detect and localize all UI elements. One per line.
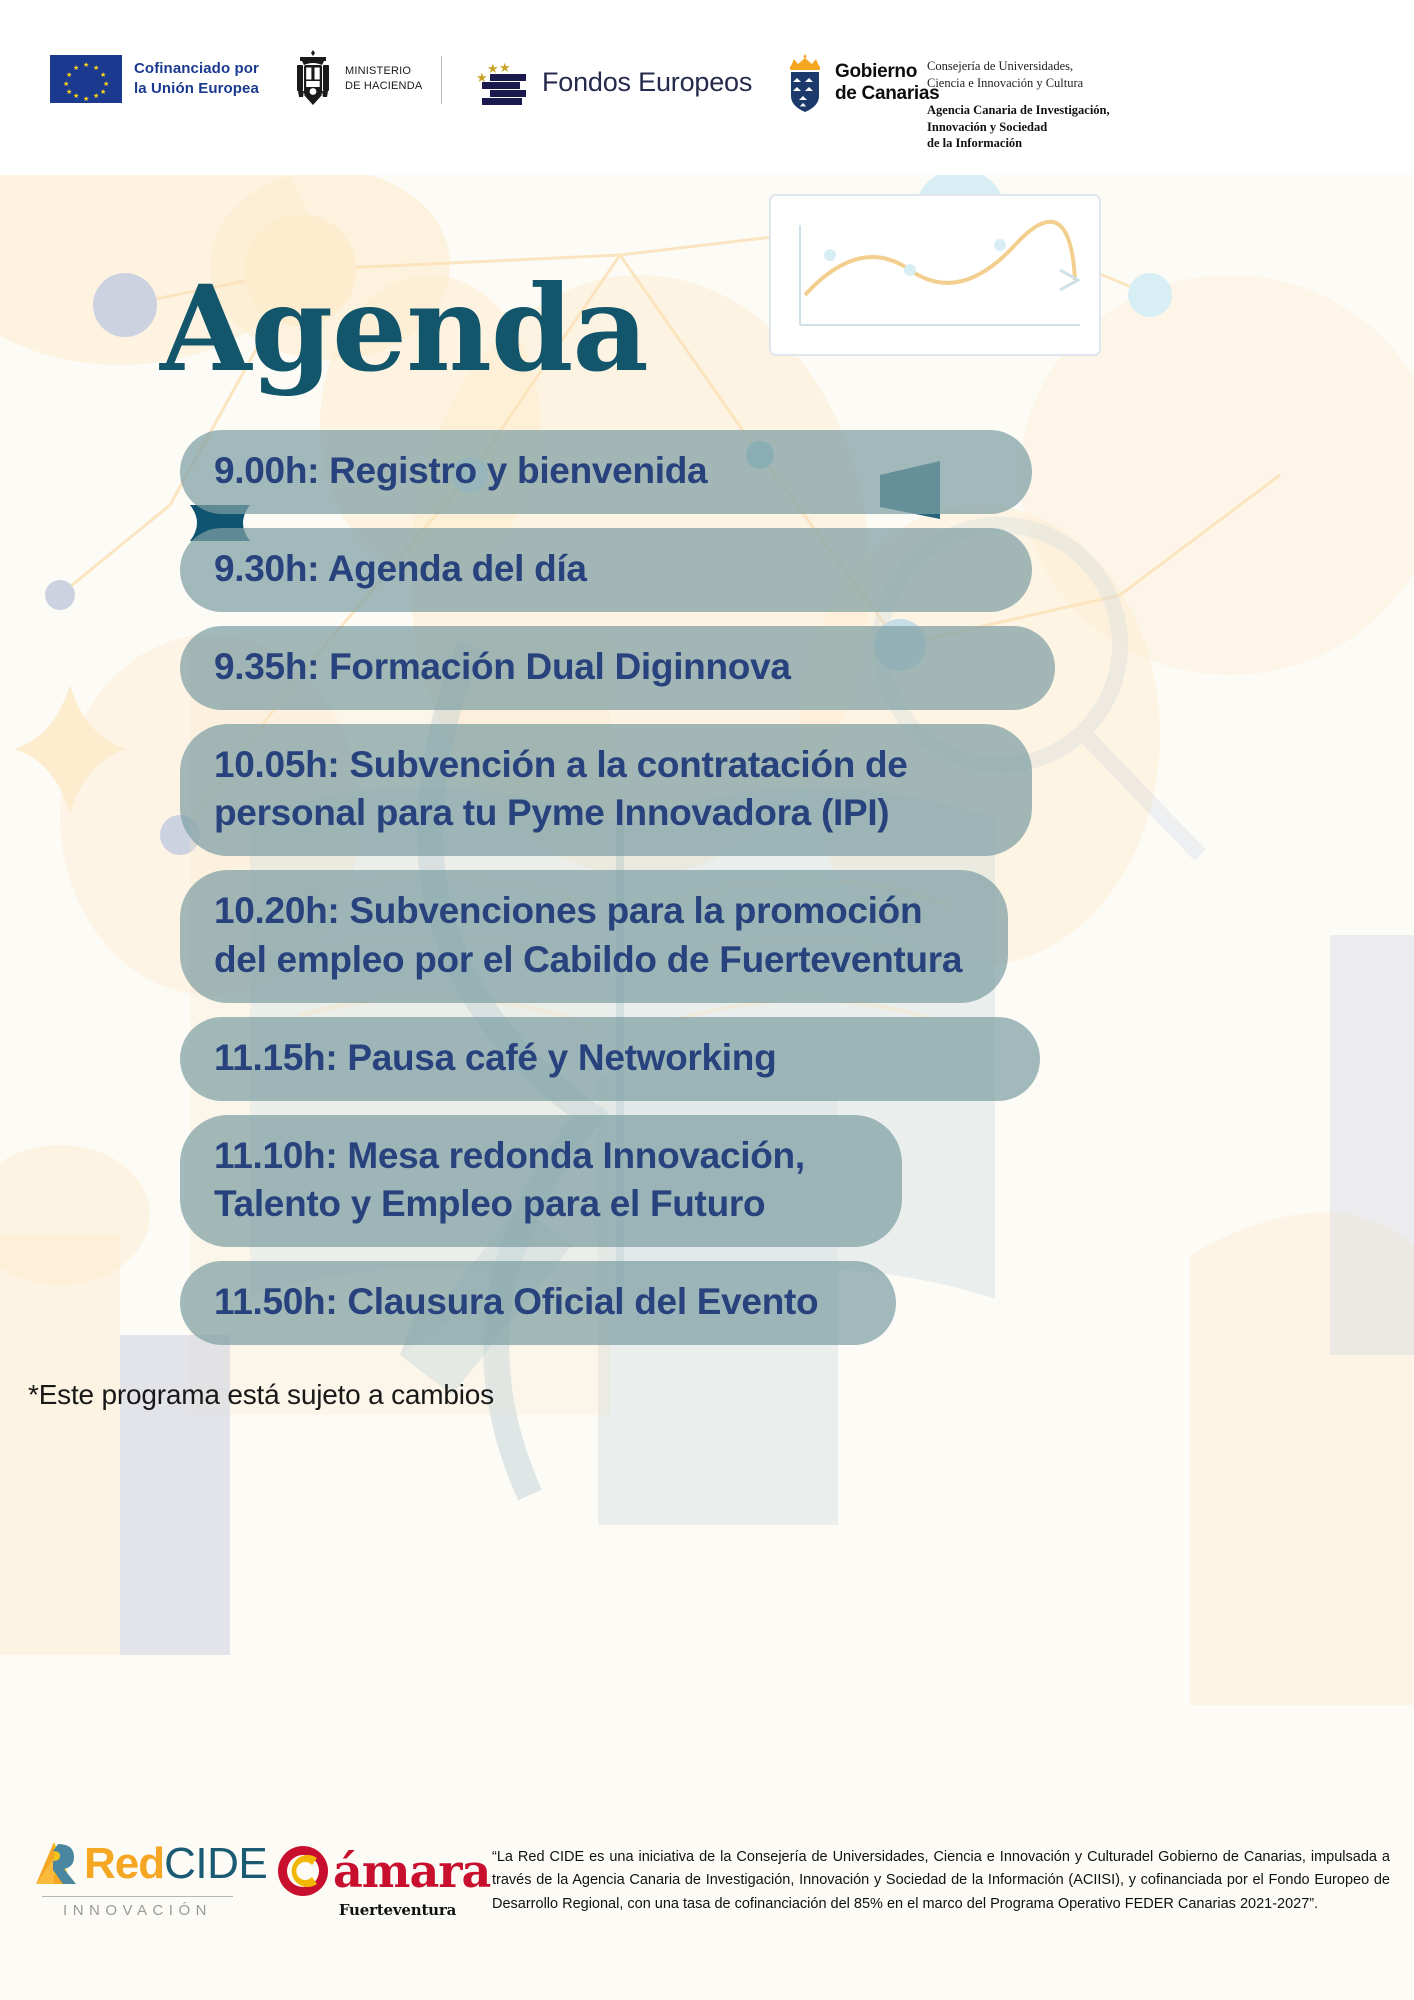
eu-cofinanced-logo: ★ ★ ★ ★ ★ ★ ★ ★ ★ ★ ★ ★ Cofinanciado por… — [50, 55, 259, 103]
redcide-mark-icon — [30, 1838, 82, 1890]
eu-flag-icon: ★ ★ ★ ★ ★ ★ ★ ★ ★ ★ ★ ★ — [50, 55, 122, 103]
agenda-item: 9.00h: Registro y bienvenida — [180, 430, 1032, 514]
eu-logo-line2: la Unión Europea — [134, 79, 259, 99]
camara-c-icon — [273, 1842, 333, 1900]
camara-word: ámara — [333, 1848, 490, 1894]
gobierno-line1: Gobierno — [835, 61, 939, 83]
agenda-item: 9.30h: Agenda del día — [180, 528, 1032, 612]
page-title: Agenda — [160, 270, 1414, 388]
redcide-cide: CIDE — [164, 1842, 267, 1886]
spain-coat-of-arms-icon — [290, 48, 336, 110]
agenda-item: 11.50h: Clausura Oficial del Evento — [180, 1261, 896, 1345]
agenda-item: 10.05h: Subvención a la contratación de … — [180, 724, 1032, 856]
eu-logo-line1: Cofinanciado por — [134, 59, 259, 79]
consejeria-line2: Ciencia e Innovación y Cultura — [927, 75, 1110, 92]
fondos-europeos-icon: ★ ★ ★ — [468, 58, 526, 106]
camara-sub: Fuerteventura — [273, 1901, 478, 1919]
fondos-europeos-logo: ★ ★ ★ Fondos Europeos — [468, 58, 752, 106]
agenda-list: 9.00h: Registro y bienvenida 9.30h: Agen… — [0, 430, 1414, 1359]
footer-logos: Red CIDE INNOVACIÓN ámara Fuerteventura — [30, 1838, 478, 1919]
camara-logo: ámara Fuerteventura — [273, 1838, 478, 1919]
aciisi-line2: Innovación y Sociedad — [927, 119, 1110, 136]
ministerio-line2: DE HACIENDA — [345, 79, 422, 94]
header-logos-bar: ★ ★ ★ ★ ★ ★ ★ ★ ★ ★ ★ ★ Cofinanciado por… — [0, 0, 1414, 175]
main-content: Agenda 9.00h: Registro y bienvenida 9.30… — [0, 175, 1414, 1411]
header-divider — [441, 56, 442, 104]
gobierno-canarias-text: Gobierno de Canarias — [835, 61, 939, 105]
aciisi-line3: de la Información — [927, 135, 1110, 152]
redcide-logo: Red CIDE INNOVACIÓN — [30, 1838, 245, 1919]
redcide-rule — [42, 1896, 233, 1897]
program-change-note: *Este programa está sujeto a cambios — [28, 1379, 1414, 1411]
ministerio-line1: MINISTERIO — [345, 64, 422, 79]
agenda-item: 11.15h: Pausa café y Networking — [180, 1017, 1040, 1101]
gobierno-canarias-logo: Gobierno de Canarias — [785, 52, 939, 114]
canary-islands-shield-icon — [785, 52, 825, 114]
fondos-europeos-label: Fondos Europeos — [542, 67, 752, 98]
redcide-tagline: INNOVACIÓN — [30, 1902, 245, 1919]
agenda-item: 10.20h: Subvenciones para la promoción d… — [180, 870, 1008, 1002]
ministerio-text: MINISTERIO DE HACIENDA — [345, 64, 422, 94]
agenda-item: 9.35h: Formación Dual Diginnova — [180, 626, 1055, 710]
ministerio-hacienda-logo: MINISTERIO DE HACIENDA — [290, 48, 422, 110]
consejeria-text: Consejería de Universidades, Ciencia e I… — [927, 58, 1110, 91]
footer-disclaimer: “La Red CIDE es una iniciativa de la Con… — [492, 1846, 1390, 1916]
aciisi-line1: Agencia Canaria de Investigación, — [927, 102, 1110, 119]
consejeria-line1: Consejería de Universidades, — [927, 58, 1110, 75]
agenda-item: 11.10h: Mesa redonda Innovación, Talento… — [180, 1115, 902, 1247]
aciisi-text: Agencia Canaria de Investigación, Innova… — [927, 102, 1110, 152]
consejeria-block: Consejería de Universidades, Ciencia e I… — [927, 58, 1110, 152]
gobierno-line2: de Canarias — [835, 83, 939, 105]
redcide-red: Red — [84, 1842, 164, 1886]
eu-logo-text: Cofinanciado por la Unión Europea — [134, 59, 259, 100]
footer: Red CIDE INNOVACIÓN ámara Fuerteventura … — [0, 1810, 1414, 2000]
